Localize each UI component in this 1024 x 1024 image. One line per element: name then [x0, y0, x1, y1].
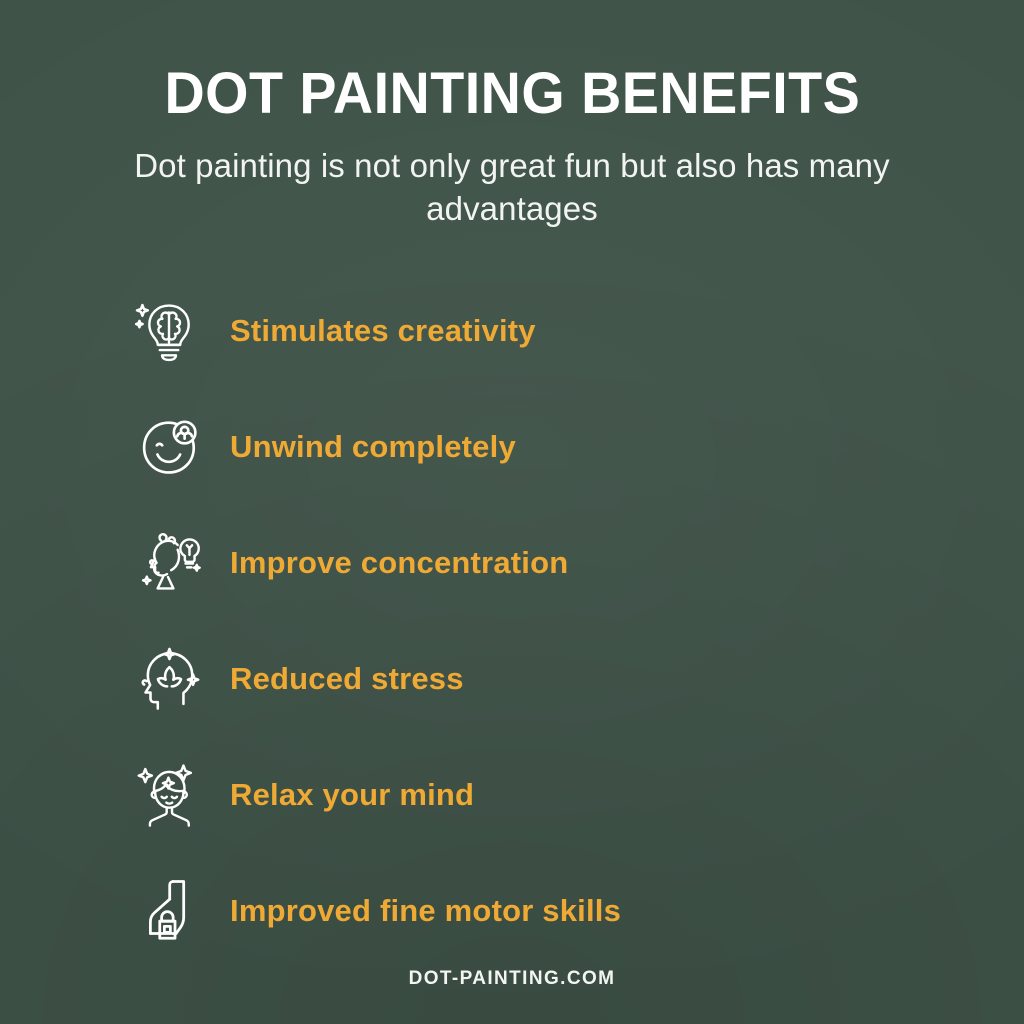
- list-item-label: Improved fine motor skills: [230, 893, 621, 929]
- head-lotus-icon: [130, 640, 208, 718]
- head-profile-lightbulb-icon: [130, 524, 208, 602]
- benefits-list: Stimulates creativity Unwind completely: [0, 273, 1024, 969]
- list-item: Unwind completely: [130, 389, 1024, 505]
- list-item-label: Improve concentration: [230, 545, 568, 581]
- footer-website: DOT-PAINTING.COM: [0, 968, 1024, 990]
- list-item-label: Unwind completely: [230, 429, 516, 465]
- hand-pinch-icon: [130, 872, 208, 950]
- list-item: Improve concentration: [130, 505, 1024, 621]
- page-title: DOT PAINTING BENEFITS: [164, 64, 860, 125]
- list-item: Stimulates creativity: [130, 273, 1024, 389]
- list-item-label: Relax your mind: [230, 777, 474, 813]
- list-item: Relax your mind: [130, 737, 1024, 853]
- smiling-face-flower-icon: [130, 408, 208, 486]
- list-item: Improved fine motor skills: [130, 853, 1024, 969]
- list-item-label: Reduced stress: [230, 661, 464, 697]
- list-item-label: Stimulates creativity: [230, 313, 536, 349]
- brain-lightbulb-icon: [130, 292, 208, 370]
- page-subtitle: Dot painting is not only great fun but a…: [132, 145, 892, 231]
- infographic-poster: DOT PAINTING BENEFITS Dot painting is no…: [0, 0, 1024, 1024]
- list-item: Reduced stress: [130, 621, 1024, 737]
- relaxed-face-stars-icon: [130, 756, 208, 834]
